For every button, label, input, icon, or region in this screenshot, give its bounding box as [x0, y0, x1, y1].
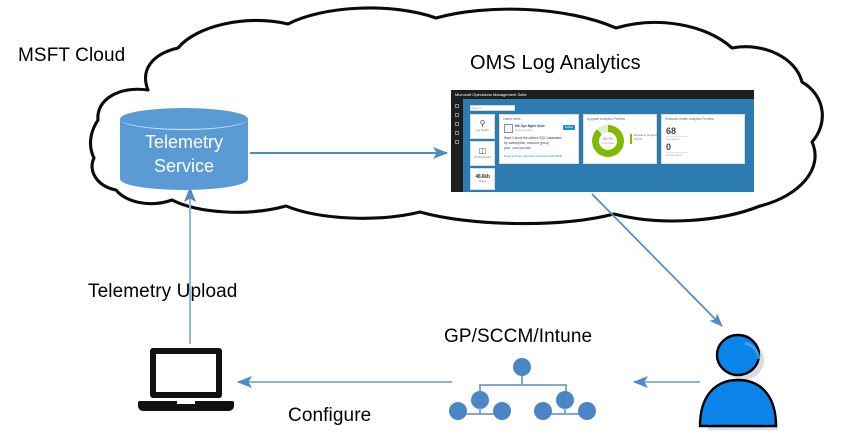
health-metric-computers: 68 Computers — [666, 126, 688, 141]
oms-window-title: Microsoft Operations Management Suite — [455, 91, 527, 98]
upgrade-donut-sublabel: Unblocked — [592, 142, 624, 145]
oms-dashboard-screenshot[interactable]: Microsoft Operations Management Suite Se… — [451, 90, 754, 192]
diagram-canvas: MSFT Cloud OMS Log Analytics Telemetry U… — [0, 0, 841, 439]
oms-tile-my-dashboard-label: My Dashboard — [471, 156, 494, 159]
cylinder-label: Telemetry Service — [120, 130, 248, 178]
tree-node-mid-right — [556, 391, 574, 409]
laptop-trackpad-notch — [177, 401, 195, 404]
person-body — [700, 380, 776, 426]
person-head — [717, 335, 759, 375]
oms-card-upgrade-analytics[interactable]: Upgrade Analytics Preview 52.7% Unblocke… — [583, 114, 657, 164]
follow-button[interactable]: Follow — [563, 125, 575, 130]
oms-card-latest-news[interactable]: Latest News ⋯ MS Ops Mgmt Suite @msopsmg… — [499, 114, 579, 164]
oms-news-body: Want 2 know the utilized SQL Databases b… — [504, 136, 576, 151]
tree-node-leaf-1 — [449, 402, 467, 420]
alerts-icon[interactable] — [455, 131, 459, 135]
msft-cloud-label: MSFT Cloud — [18, 44, 125, 67]
tree-node-leaf-2 — [493, 402, 511, 420]
search-icon[interactable] — [455, 113, 459, 117]
upgrade-legend-value: 42.1% — [634, 138, 642, 142]
oms-tile-my-dashboard[interactable]: ◫ My Dashboard — [470, 141, 495, 166]
client-device-laptop-icon — [138, 348, 234, 418]
oms-log-analytics-label: OMS Log Analytics — [470, 52, 641, 75]
oms-card-upgrade-header: Upgrade Analytics Preview — [587, 117, 625, 121]
oms-card-windows-health[interactable]: Windows Health Analytics Preview 68 Comp… — [661, 114, 745, 164]
dashboard-icon[interactable] — [455, 122, 459, 126]
oms-search-input[interactable]: Search — [470, 105, 515, 111]
tree-node-mid-left — [471, 391, 489, 409]
settings-icon[interactable] — [455, 140, 459, 144]
gp-sccm-intune-label: GP/SCCM/Intune — [444, 325, 592, 348]
oms-news-link[interactable]: blogs.technet.microsoft.com/msoms/2016/0… — [504, 154, 576, 158]
oms-tile-usage-label: Usage — [471, 180, 494, 183]
health-metric-alerts-value: 0 — [666, 142, 688, 152]
avatar — [504, 124, 513, 133]
legend-swatch — [630, 134, 632, 144]
telemetry-upload-label: Telemetry Upload — [88, 280, 237, 303]
cylinder-label-line-2: Service — [120, 154, 248, 178]
arrow-oms-to-admin — [592, 194, 722, 326]
it-administrator-icon — [695, 333, 785, 431]
health-metric-alerts: 0 Health Alerts — [666, 142, 688, 157]
laptop-screen — [150, 348, 222, 398]
tree-node-leaf-4 — [578, 402, 596, 420]
configure-control-label: Configure Control — [288, 358, 371, 439]
oms-news-body-line-3: pool...now you can — [504, 146, 576, 151]
tree-connector-level1 — [479, 384, 567, 386]
dashboard-icon: ◫ — [477, 146, 488, 155]
tree-node-leaf-3 — [534, 402, 552, 420]
oms-search-placeholder: Search — [472, 106, 482, 110]
oms-title-bar: Microsoft Operations Management Suite — [451, 90, 754, 99]
laptop-screen-inner — [156, 354, 216, 392]
health-metric-computers-label: Computers — [666, 136, 688, 141]
oms-left-rail[interactable] — [451, 99, 463, 192]
cylinder-label-line-1: Telemetry — [120, 130, 248, 154]
configure-line-1: Configure — [288, 404, 371, 427]
oms-tile-usage[interactable]: 48.6kb Usage — [470, 168, 495, 190]
magnifier-icon: ⚲ — [477, 119, 488, 128]
health-metric-computers-value: 68 — [666, 126, 688, 136]
upgrade-donut-chart: 52.7% Unblocked — [592, 125, 624, 157]
oms-tile-log-search[interactable]: ⚲ Log Search — [470, 114, 495, 139]
management-hierarchy-tree — [455, 358, 590, 420]
tree-node-root — [513, 358, 531, 376]
oms-news-account-handle: @msopsmgmt — [515, 128, 533, 132]
overflow-menu-icon[interactable]: ⋯ — [571, 117, 575, 121]
home-icon[interactable] — [455, 104, 459, 108]
health-metric-alerts-label: Health Alerts — [666, 152, 688, 157]
oms-card-health-header: Windows Health Analytics Preview — [665, 117, 714, 121]
telemetry-service-cylinder: Telemetry Service — [120, 108, 248, 190]
oms-card-news-header: Latest News — [503, 117, 521, 121]
oms-tile-log-search-label: Log Search — [471, 129, 494, 132]
upgrade-donut-value: 52.7% — [592, 137, 624, 141]
cylinder-top-ellipse — [120, 108, 248, 130]
